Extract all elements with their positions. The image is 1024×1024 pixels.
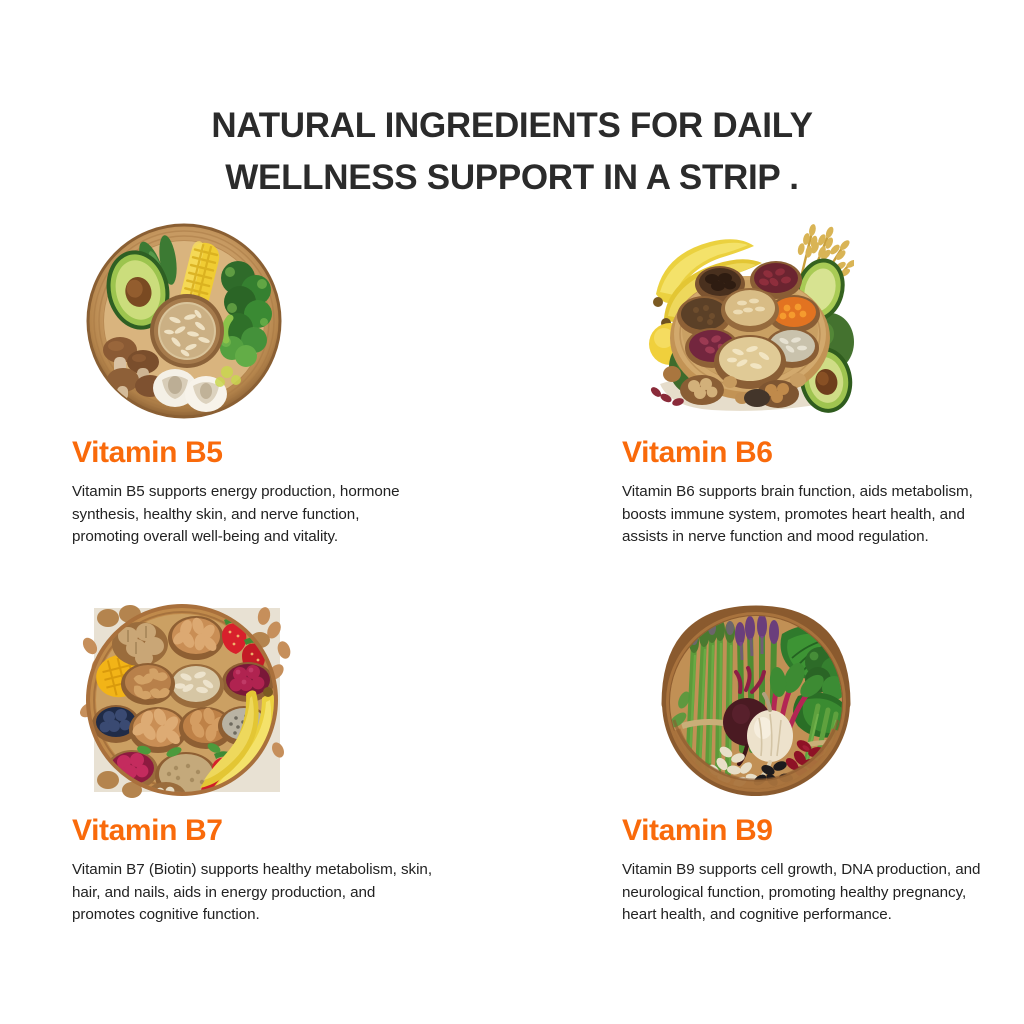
vitamin-card-b9: Vitamin B9 Vitamin B9 supports cell grow… [622, 600, 1002, 927]
vitamin-b5-heading: Vitamin B5 [72, 436, 492, 470]
vitamin-b7-heading: Vitamin B7 [72, 814, 492, 848]
vitamin-card-grid: Vitamin B5 Vitamin B5 supports energy pr… [0, 0, 1024, 1024]
infographic-poster: NATURAL INGREDIENTS FOR DAILY WELLNESS S… [0, 0, 1024, 1024]
vitamin-b5-image-wrap [72, 222, 492, 422]
vitamin-card-b5: Vitamin B5 Vitamin B5 supports energy pr… [72, 222, 492, 549]
vitamin-card-b7: Vitamin B7 Vitamin B7 (Biotin) supports … [72, 600, 492, 927]
b5-food-basket-image [80, 222, 288, 420]
vitamin-b6-description: Vitamin B6 supports brain function, aids… [622, 481, 994, 549]
vitamin-b5-description: Vitamin B5 supports energy production, h… [72, 481, 417, 549]
b9-food-basket-image [654, 600, 858, 800]
vitamin-b7-description: Vitamin B7 (Biotin) supports healthy met… [72, 859, 442, 927]
vitamin-b9-heading: Vitamin B9 [622, 814, 1002, 848]
b6-food-basket-image [642, 222, 854, 420]
vitamin-card-b6: Vitamin B6 Vitamin B6 supports brain fun… [622, 222, 1002, 549]
b7-food-basket-image [78, 600, 294, 800]
vitamin-b6-image-wrap [622, 222, 1002, 422]
vitamin-b9-description: Vitamin B9 supports cell growth, DNA pro… [622, 859, 994, 927]
vitamin-b9-image-wrap [622, 600, 1002, 800]
vitamin-b7-image-wrap [72, 600, 492, 800]
vitamin-b6-heading: Vitamin B6 [622, 436, 1002, 470]
